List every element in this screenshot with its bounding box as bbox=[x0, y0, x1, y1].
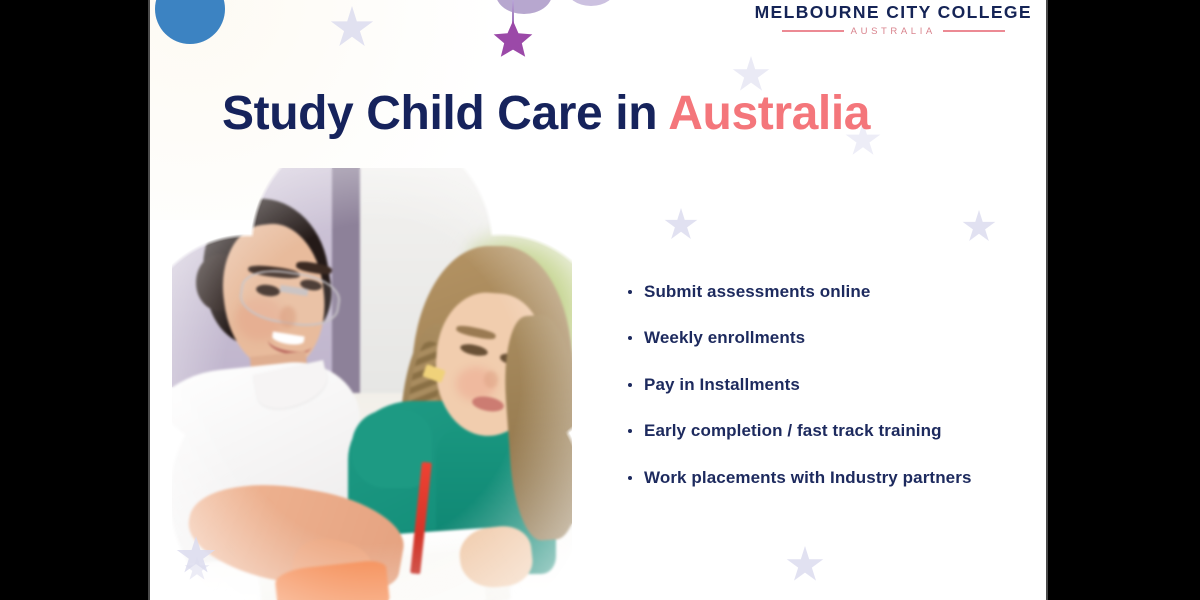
list-item-label: Work placements with Industry partners bbox=[644, 468, 972, 488]
slide-edge-right bbox=[1046, 0, 1048, 600]
logo-line-2-row: AUSTRALIA bbox=[755, 27, 1032, 37]
purple-hanging-star-icon bbox=[492, 20, 534, 60]
list-item: Weekly enrollments bbox=[628, 328, 972, 348]
letterbox-bar-right bbox=[1048, 0, 1200, 600]
teacher-and-child-photo bbox=[172, 168, 572, 600]
headline-accent: Australia bbox=[668, 87, 870, 140]
list-item: Early completion / fast track training bbox=[628, 421, 972, 441]
star-mid-left-icon bbox=[664, 208, 698, 242]
logo-rule-right bbox=[943, 30, 1005, 32]
list-item-label: Weekly enrollments bbox=[644, 328, 805, 348]
logo-line-2: AUSTRALIA bbox=[851, 27, 936, 37]
list-item-label: Submit assessments online bbox=[644, 282, 870, 302]
bullet-dot-icon bbox=[628, 476, 632, 480]
star-mid-right-icon bbox=[962, 210, 996, 244]
logo-line-1: MELBOURNE CITY COLLEGE bbox=[755, 4, 1032, 22]
bullet-dot-icon bbox=[628, 290, 632, 294]
list-item-label: Early completion / fast track training bbox=[644, 421, 942, 441]
slide-stage: MELBOURNE CITY COLLEGE AUSTRALIA Study C… bbox=[0, 0, 1200, 600]
letterbox-bar-left bbox=[0, 0, 150, 600]
list-item-label: Pay in Installments bbox=[644, 375, 800, 395]
star-top-left-icon bbox=[330, 6, 374, 50]
headline-main: Study Child Care in bbox=[222, 87, 668, 140]
list-item: Submit assessments online bbox=[628, 282, 972, 302]
melbourne-city-college-logo: MELBOURNE CITY COLLEGE AUSTRALIA bbox=[755, 4, 1032, 36]
arc-purple-right-decoration bbox=[566, 0, 616, 6]
list-item: Pay in Installments bbox=[628, 375, 972, 395]
slide-edge-left bbox=[148, 0, 150, 600]
page-title: Study Child Care in Australia bbox=[222, 88, 870, 141]
bullet-dot-icon bbox=[628, 429, 632, 433]
presentation-slide: MELBOURNE CITY COLLEGE AUSTRALIA Study C… bbox=[150, 0, 1048, 600]
blue-circle-decoration bbox=[155, 0, 225, 44]
list-item: Work placements with Industry partners bbox=[628, 468, 972, 488]
arc-purple-left-decoration bbox=[496, 0, 552, 14]
star-bottom-center-icon bbox=[786, 546, 824, 584]
photo-canvas bbox=[172, 168, 572, 600]
bullet-dot-icon bbox=[628, 336, 632, 340]
logo-rule-left bbox=[782, 30, 844, 32]
photo-vignette-layer bbox=[172, 168, 572, 600]
bullet-dot-icon bbox=[628, 383, 632, 387]
star-string bbox=[512, 0, 514, 24]
feature-list: Submit assessments online Weekly enrollm… bbox=[628, 282, 972, 488]
